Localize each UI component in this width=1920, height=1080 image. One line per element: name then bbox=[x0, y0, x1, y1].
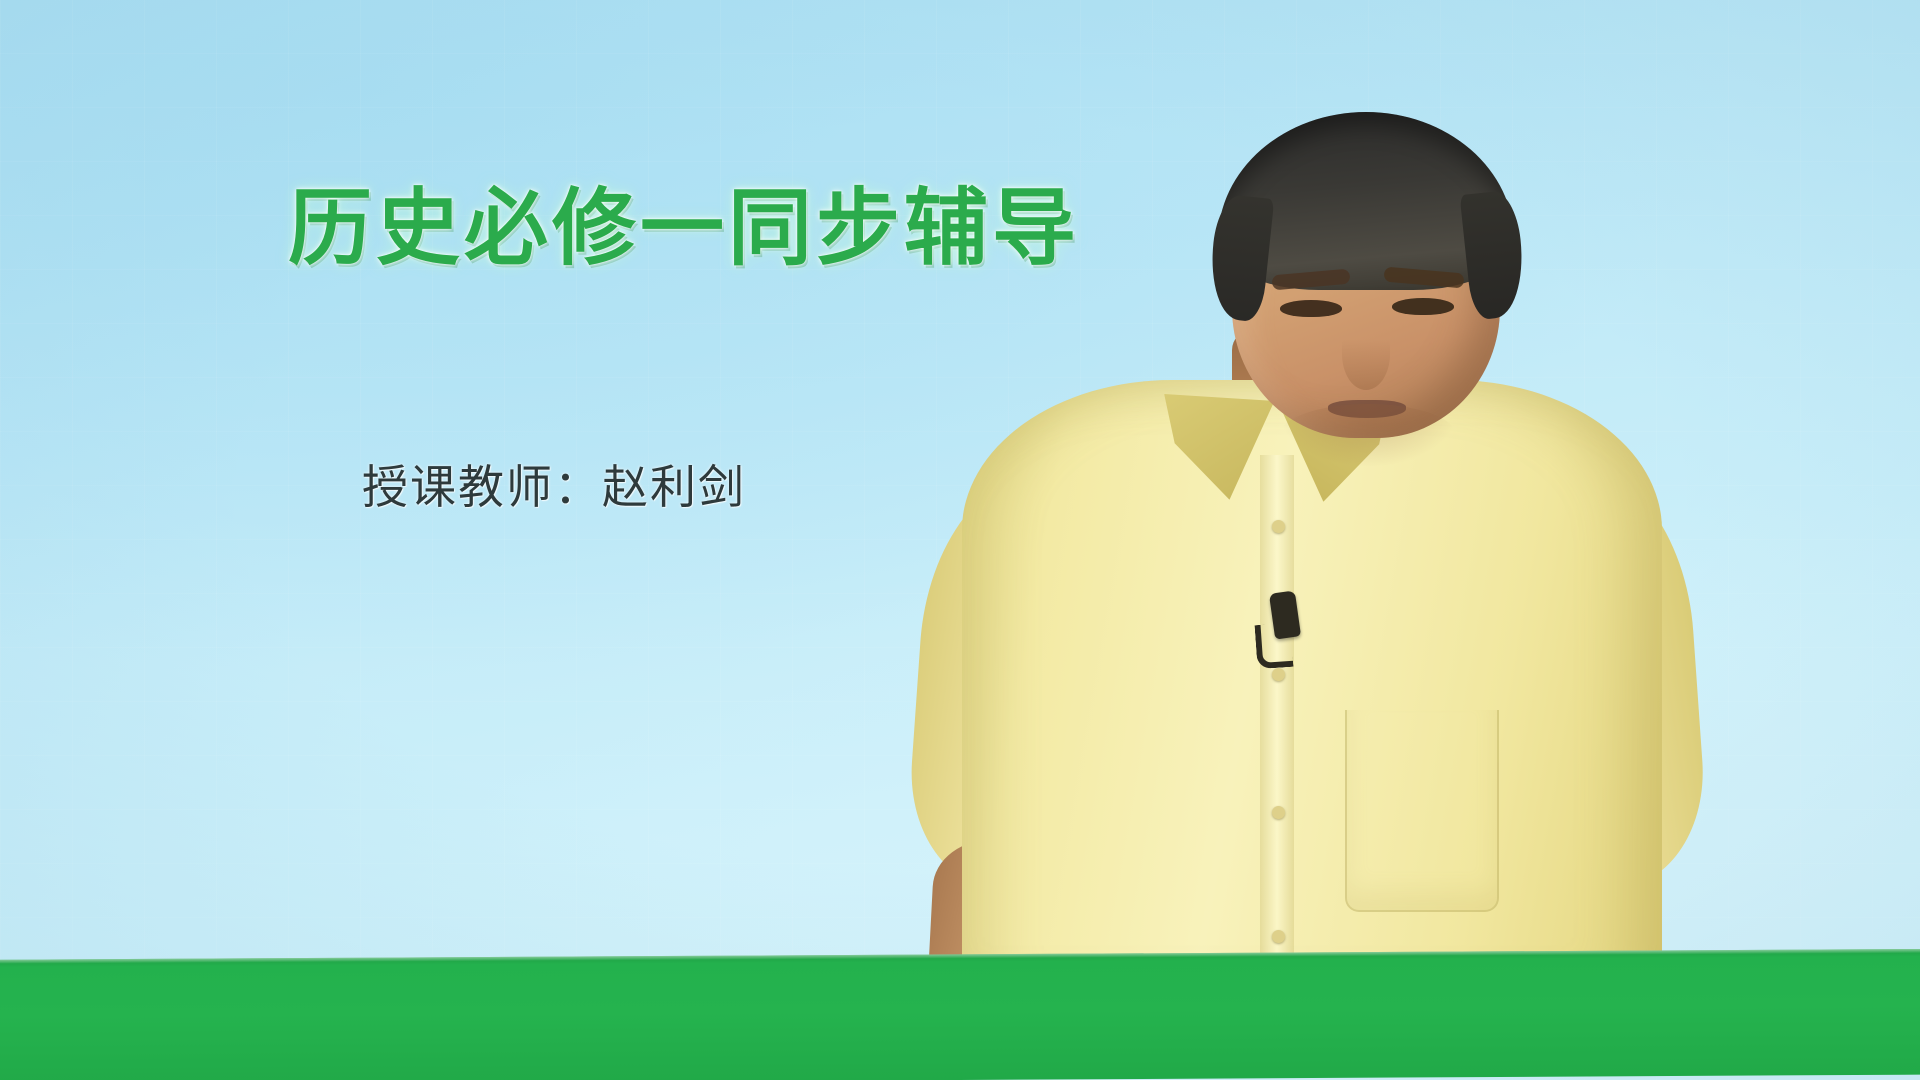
slide-title: 历史必修一同步辅导 bbox=[288, 186, 1080, 270]
left-eye bbox=[1280, 300, 1342, 317]
instructor-subtitle: 授课教师：赵利剑 bbox=[362, 464, 746, 510]
presenter-figure bbox=[960, 0, 1920, 1000]
bottom-green-stage-bar bbox=[0, 949, 1920, 1080]
right-eye bbox=[1392, 298, 1454, 315]
shirt-button bbox=[1272, 806, 1285, 819]
chin-shadow bbox=[1280, 404, 1456, 466]
shirt-button bbox=[1272, 930, 1285, 943]
shirt-placket bbox=[1260, 455, 1294, 1000]
shirt-button bbox=[1272, 520, 1285, 533]
shirt-button bbox=[1272, 668, 1285, 681]
nose bbox=[1342, 318, 1390, 390]
shirt-chest-pocket bbox=[1345, 710, 1499, 912]
video-lecture-title-slide: 历史必修一同步辅导 授课教师：赵利剑 bbox=[0, 0, 1920, 1080]
